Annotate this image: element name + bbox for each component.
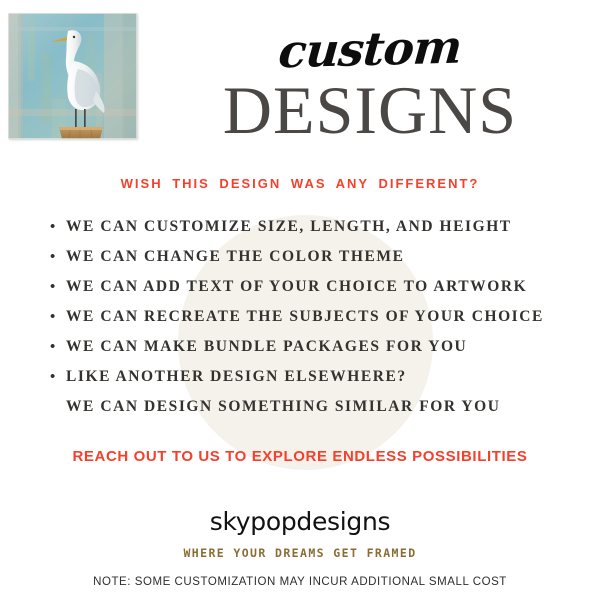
bullet-icon: • [50, 370, 66, 385]
list-item: • WE CAN CHANGE THE COLOR THEME [50, 248, 595, 278]
brand-tagline: WHERE YOUR DREAMS GET FRAMED [0, 546, 600, 560]
list-item-label: WE CAN MAKE BUNDLE PACKAGES FOR YOU [66, 338, 467, 356]
list-item: • LIKE ANOTHER DESIGN ELSEWHERE? [50, 368, 595, 398]
call-to-action-text: REACH OUT TO US TO EXPLORE ENDLESS POSSI… [0, 448, 600, 465]
title-serif-designs: DESIGNS [140, 76, 600, 144]
footer-note: NOTE: SOME CUSTOMIZATION MAY INCUR ADDIT… [0, 576, 600, 588]
title-script-custom: custom [138, 20, 600, 78]
list-item-label: WE CAN DESIGN SOMETHING SIMILAR FOR YOU [66, 398, 501, 416]
subtitle-question: WISH THIS DESIGN WAS ANY DIFFERENT? [0, 176, 600, 191]
brand-name: skypopdesigns [0, 508, 600, 536]
headline-block: custom DESIGNS [140, 16, 600, 144]
bullet-icon: • [50, 310, 66, 325]
footer-brand-block: skypopdesigns WHERE YOUR DREAMS GET FRAM… [0, 508, 600, 560]
list-item-continuation: WE CAN DESIGN SOMETHING SIMILAR FOR YOU [50, 398, 595, 428]
bullet-icon: • [50, 340, 66, 355]
list-item: • WE CAN RECREATE THE SUBJECTS OF YOUR C… [50, 308, 595, 338]
list-item-label: WE CAN ADD TEXT OF YOUR CHOICE TO ARTWOR… [66, 278, 527, 296]
list-item: • WE CAN ADD TEXT OF YOUR CHOICE TO ARTW… [50, 278, 595, 308]
egret-painting-icon [8, 13, 137, 139]
feature-list: • WE CAN CUSTOMIZE SIZE, LENGTH, AND HEI… [50, 218, 595, 428]
list-item: • WE CAN CUSTOMIZE SIZE, LENGTH, AND HEI… [50, 218, 595, 248]
promo-graphic-canvas: custom DESIGNS WISH THIS DESIGN WAS ANY … [0, 0, 600, 600]
list-item-label: WE CAN CUSTOMIZE SIZE, LENGTH, AND HEIGH… [66, 218, 512, 236]
list-item-label: LIKE ANOTHER DESIGN ELSEWHERE? [66, 368, 407, 386]
list-item-label: WE CAN CHANGE THE COLOR THEME [66, 248, 405, 266]
list-item: • WE CAN MAKE BUNDLE PACKAGES FOR YOU [50, 338, 595, 368]
artwork-thumbnail[interactable] [8, 13, 137, 139]
bullet-icon: • [50, 220, 66, 235]
bullet-icon: • [50, 250, 66, 265]
bullet-icon: • [50, 280, 66, 295]
list-item-label: WE CAN RECREATE THE SUBJECTS OF YOUR CHO… [66, 308, 544, 326]
